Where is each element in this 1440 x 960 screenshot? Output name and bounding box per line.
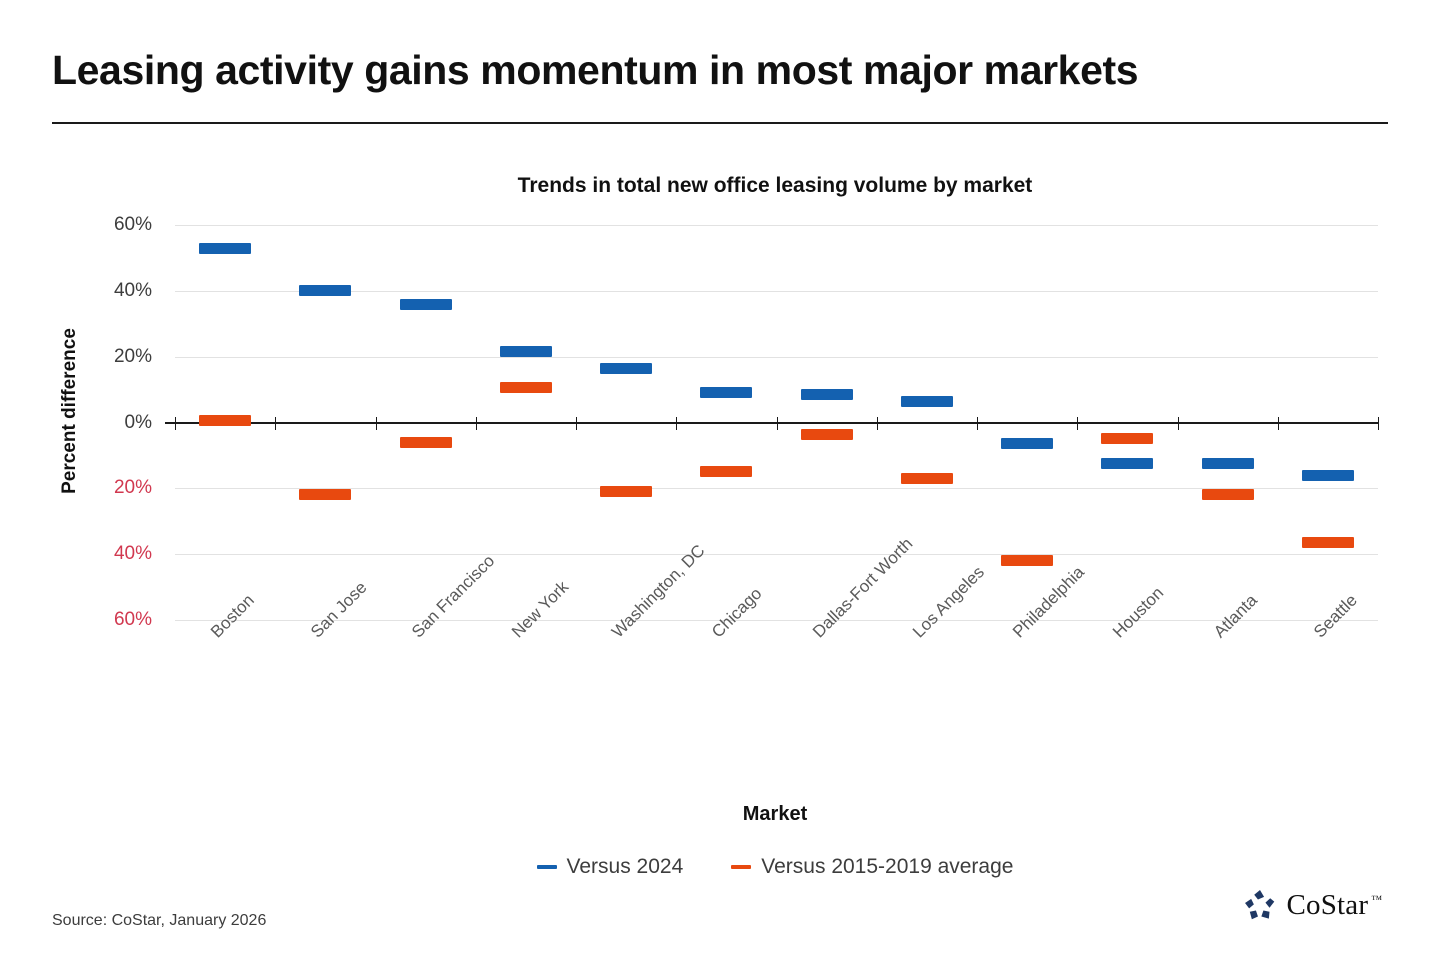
- legend-label: Versus 2024: [567, 855, 684, 879]
- y-axis-tick-label: 40%: [62, 543, 152, 565]
- data-marker: [199, 415, 251, 426]
- y-axis-tick-labels: 60%40%20%0%20%40%60%: [62, 225, 152, 620]
- data-marker: [1202, 489, 1254, 500]
- data-marker: [801, 429, 853, 440]
- trademark-symbol: ™: [1371, 894, 1382, 906]
- legend-item[interactable]: Versus 2015-2019 average: [731, 855, 1013, 879]
- data-marker: [1001, 438, 1053, 449]
- data-marker: [1101, 433, 1153, 444]
- costar-wordmark: CoStar: [1286, 889, 1368, 922]
- legend-label: Versus 2015-2019 average: [761, 855, 1013, 879]
- data-marker: [1001, 555, 1053, 566]
- y-axis-tick-label: 60%: [62, 609, 152, 631]
- data-marker: [1302, 470, 1354, 481]
- y-axis-tick-label: 20%: [62, 477, 152, 499]
- x-axis-category-labels: BostonSan JoseSan FranciscoNew YorkWashi…: [175, 628, 1378, 748]
- data-marker: [400, 437, 452, 448]
- zero-baseline: [165, 422, 1378, 424]
- data-marker: [400, 299, 452, 310]
- chart-title: Trends in total new office leasing volum…: [170, 174, 1380, 198]
- y-axis-tick-label: 20%: [62, 346, 152, 368]
- gridline: [175, 620, 1378, 621]
- gridline: [175, 554, 1378, 555]
- gridline: [175, 291, 1378, 292]
- data-marker: [1302, 537, 1354, 548]
- plot-area: [175, 225, 1378, 620]
- x-axis-tick: [1378, 417, 1379, 430]
- slide-canvas: Leasing activity gains momentum in most …: [0, 0, 1440, 960]
- source-note: Source: CoStar, January 2026: [52, 912, 266, 930]
- gridline: [175, 357, 1378, 358]
- header-divider: [52, 122, 1388, 124]
- data-marker: [600, 363, 652, 374]
- y-axis-tick-label: 0%: [62, 412, 152, 434]
- costar-logo: CoStar ™: [1243, 888, 1382, 922]
- data-marker: [700, 466, 752, 477]
- x-axis-title: Market: [170, 803, 1380, 826]
- data-marker: [500, 382, 552, 393]
- page-title: Leasing activity gains momentum in most …: [52, 48, 1392, 94]
- chart-legend: Versus 2024Versus 2015-2019 average: [170, 855, 1380, 879]
- costar-pinwheel-icon: [1243, 888, 1277, 922]
- data-marker: [901, 396, 953, 407]
- data-marker: [1202, 458, 1254, 469]
- data-marker: [500, 346, 552, 357]
- gridline: [175, 488, 1378, 489]
- legend-dash-icon: [537, 865, 557, 869]
- legend-dash-icon: [731, 865, 751, 869]
- data-marker: [700, 387, 752, 398]
- legend-item[interactable]: Versus 2024: [537, 855, 684, 879]
- data-marker: [1101, 458, 1153, 469]
- data-marker: [199, 243, 251, 254]
- data-marker: [299, 489, 351, 500]
- data-marker: [901, 473, 953, 484]
- data-marker: [299, 285, 351, 296]
- data-marker: [600, 486, 652, 497]
- gridline: [175, 225, 1378, 226]
- data-marker: [801, 389, 853, 400]
- y-axis-tick-label: 40%: [62, 280, 152, 302]
- y-axis-tick-label: 60%: [62, 214, 152, 236]
